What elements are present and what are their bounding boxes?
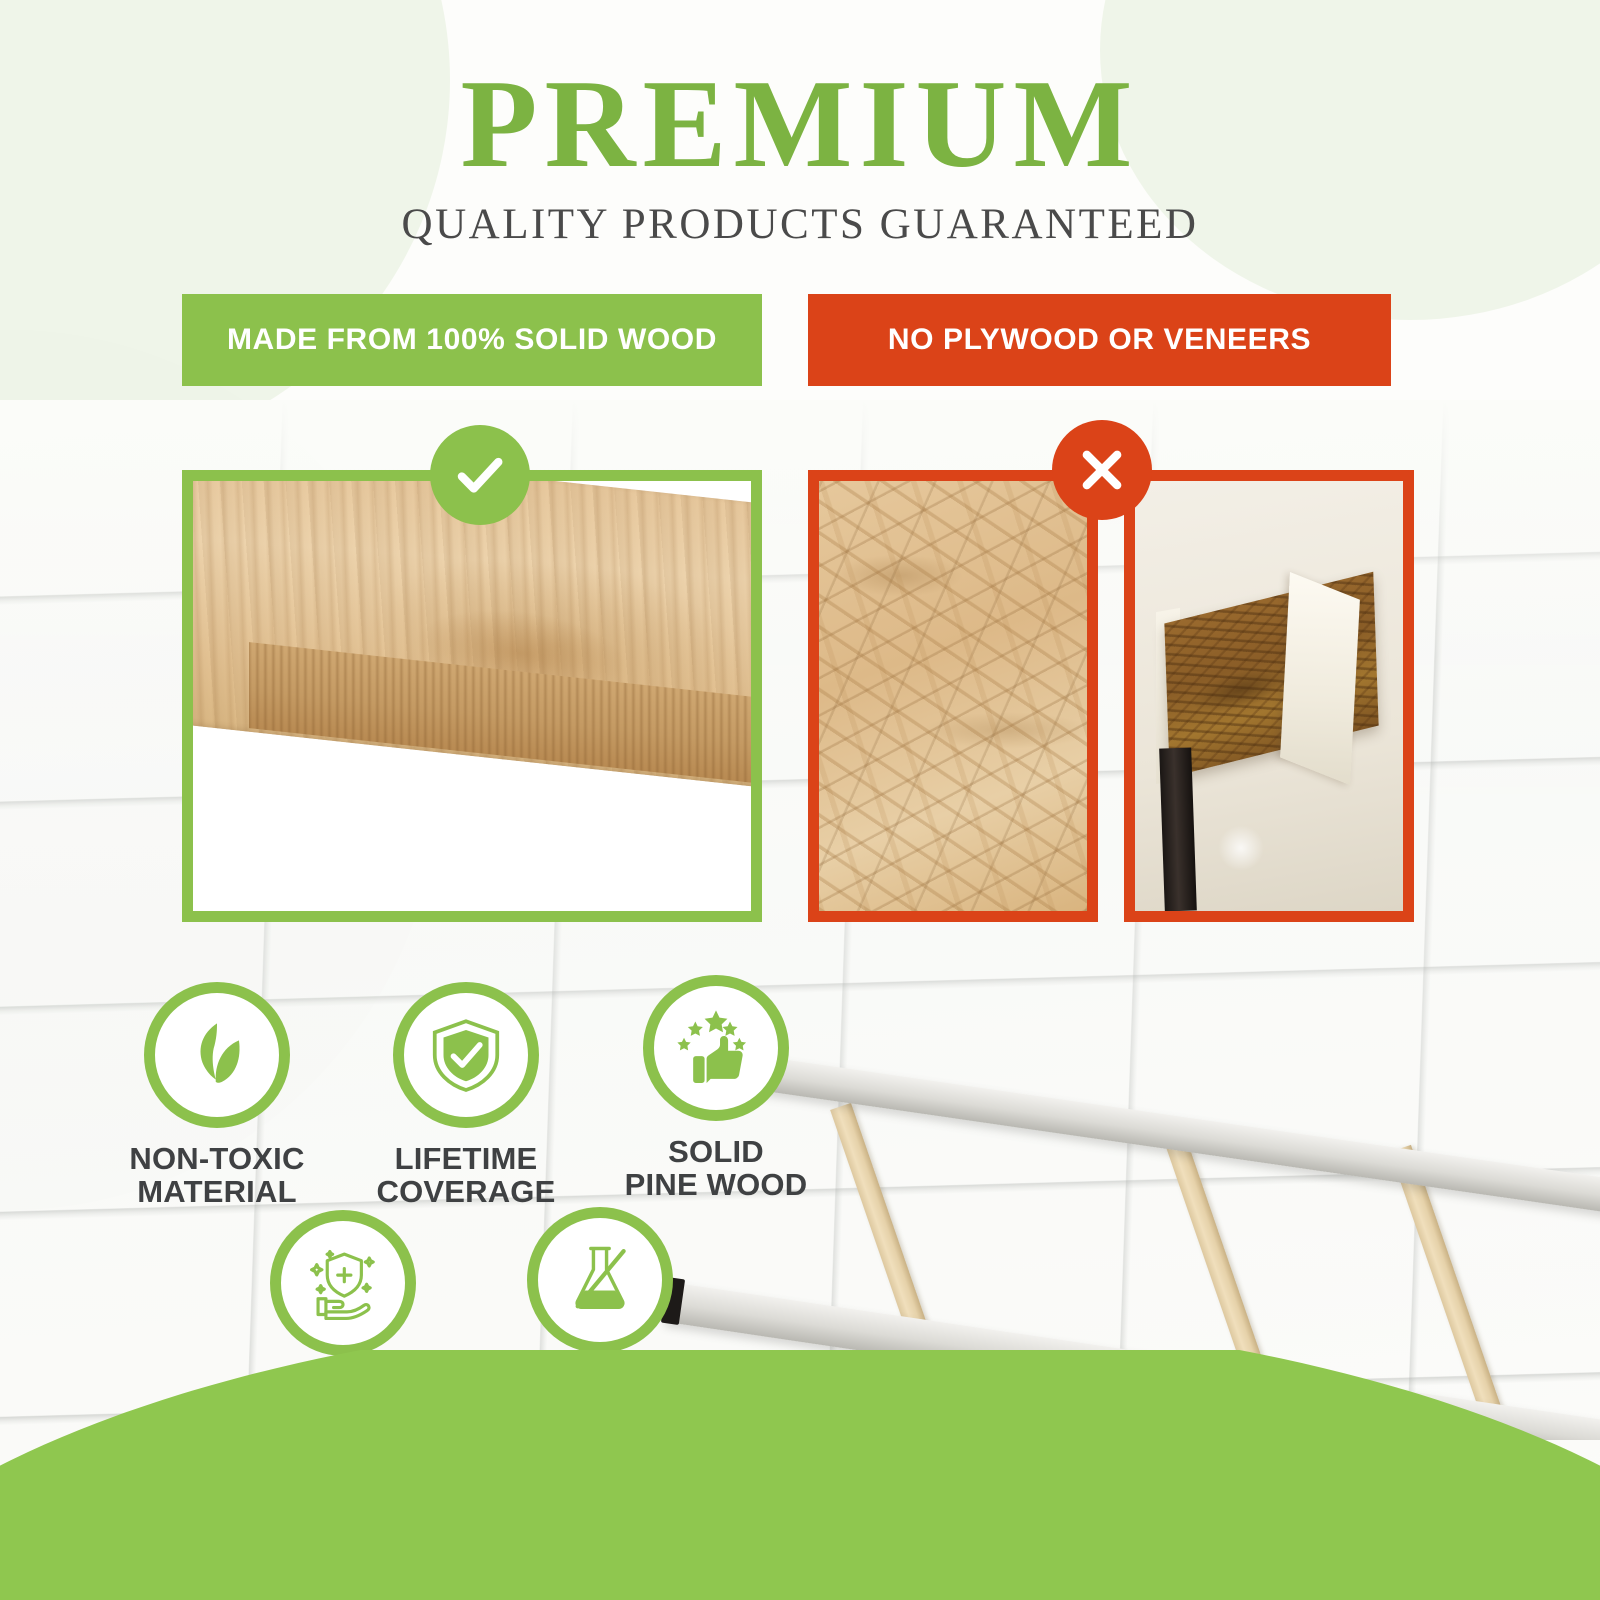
feature-label: SOLID PINE WOOD [611, 1135, 821, 1201]
x-icon [1052, 420, 1152, 520]
particleboard-photo [1135, 481, 1403, 911]
feature-label: NON-TOXIC MATERIAL [122, 1142, 312, 1208]
peeling-veneer [1280, 572, 1359, 785]
banner-solid-wood: MADE FROM 100% SOLID WOOD [182, 294, 762, 386]
banner-no-plywood-label: NO PLYWOOD OR VENEERS [888, 323, 1311, 357]
band-light-arc [0, 1350, 1600, 1600]
furniture-leg [1159, 747, 1197, 911]
page-title: PREMIUM [0, 62, 1600, 188]
highlight-glare [1218, 825, 1264, 871]
feature-solid-pine-wood: SOLID PINE WOOD [611, 975, 821, 1201]
banner-no-plywood: NO PLYWOOD OR VENEERS [808, 294, 1391, 386]
photo-frame-solid-wood [182, 470, 762, 922]
feature-lifetime-coverage: LIFETIME COVERAGE [371, 982, 561, 1208]
page-subtitle: QUALITY PRODUCTS GUARANTEED [0, 200, 1600, 249]
photo-frame-particleboard [1124, 470, 1414, 922]
feature-label: LIFETIME COVERAGE [371, 1142, 561, 1208]
shield-check-icon [393, 982, 539, 1128]
no-flask-icon [527, 1207, 673, 1353]
hand-shield-icon [270, 1210, 416, 1356]
leaves-icon [144, 982, 290, 1128]
banner-solid-wood-label: MADE FROM 100% SOLID WOOD [227, 323, 717, 357]
photo-frame-osb [808, 470, 1098, 922]
header: PREMIUM QUALITY PRODUCTS GUARANTEED [0, 62, 1600, 249]
solid-wood-photo [193, 481, 751, 911]
osb-strandboard-photo [819, 481, 1087, 911]
check-icon [430, 425, 530, 525]
thumbs-up-stars-icon [643, 975, 789, 1121]
bottom-green-band [0, 1350, 1600, 1600]
infographic-canvas: PREMIUM QUALITY PRODUCTS GUARANTEED MADE… [0, 0, 1600, 1600]
feature-non-toxic: NON-TOXIC MATERIAL [122, 982, 312, 1208]
